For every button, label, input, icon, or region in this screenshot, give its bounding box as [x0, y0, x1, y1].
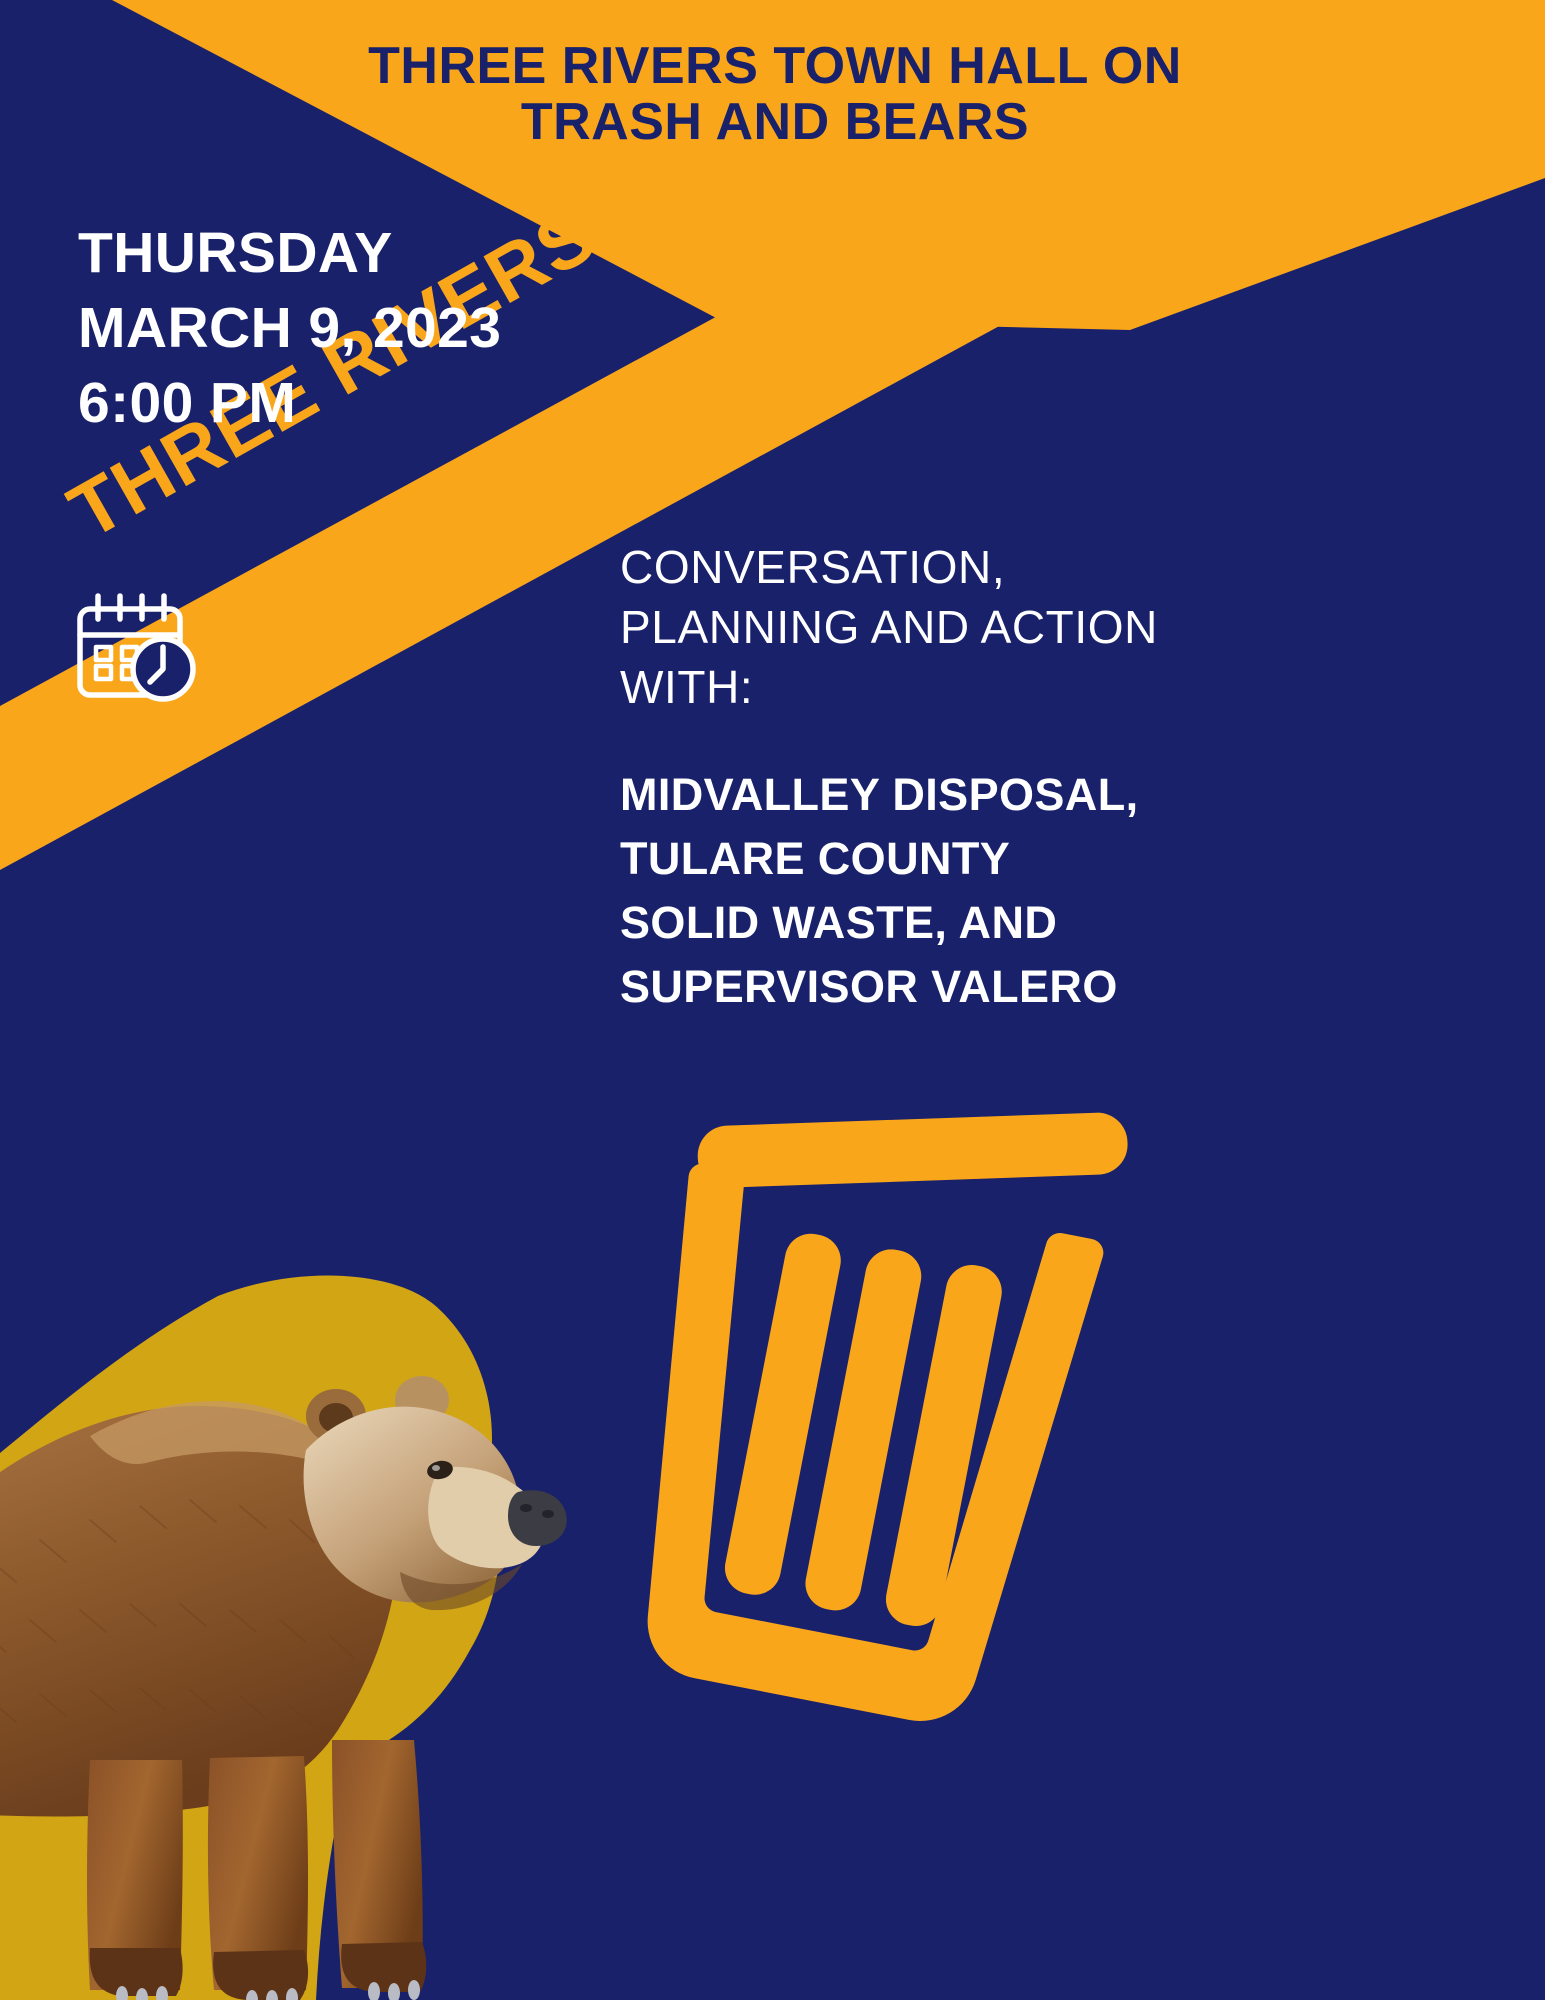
event-time: 6:00 PM [78, 366, 501, 441]
participating-organizations: MIDVALLEY DISPOSAL, TULARE COUNTY SOLID … [620, 763, 1240, 1019]
bear-nostril-left [520, 1504, 532, 1512]
calendar-clock-icon [70, 593, 206, 703]
details-lead: CONVERSATION, PLANNING AND ACTION WITH: [620, 538, 1240, 717]
page-title: THREE RIVERS TOWN HALL ON TRASH AND BEAR… [330, 38, 1220, 150]
brown-bear-photo [0, 1200, 590, 2000]
poster-canvas: THREE RIVERS TOWN HALL ON TRASH AND BEAR… [0, 0, 1545, 2000]
bear-nose [508, 1490, 567, 1546]
bear-paw-left [90, 1948, 183, 1996]
org-line-2: TULARE COUNTY [620, 827, 1240, 891]
lead-line-2: PLANNING AND ACTION [620, 598, 1240, 658]
title-line-1: THREE RIVERS TOWN HALL ON [368, 37, 1182, 95]
bear-eye-highlight [432, 1465, 440, 1471]
lead-line-3: WITH: [620, 658, 1240, 718]
bear-nostril-right [542, 1510, 554, 1518]
event-day: THURSDAY [78, 216, 501, 291]
event-date: MARCH 9, 2023 [78, 291, 501, 366]
org-line-4: SUPERVISOR VALERO [620, 955, 1240, 1019]
trash-can-icon [615, 1030, 1135, 1630]
lead-line-1: CONVERSATION, [620, 538, 1240, 598]
org-line-3: SOLID WASTE, AND [620, 891, 1240, 955]
trash-lid [697, 1112, 1129, 1189]
org-line-1: MIDVALLEY DISPOSAL, [620, 763, 1240, 827]
event-datetime: THURSDAY MARCH 9, 2023 6:00 PM [78, 216, 501, 442]
event-details: CONVERSATION, PLANNING AND ACTION WITH: … [620, 538, 1240, 1019]
title-line-2: TRASH AND BEARS [521, 93, 1029, 151]
